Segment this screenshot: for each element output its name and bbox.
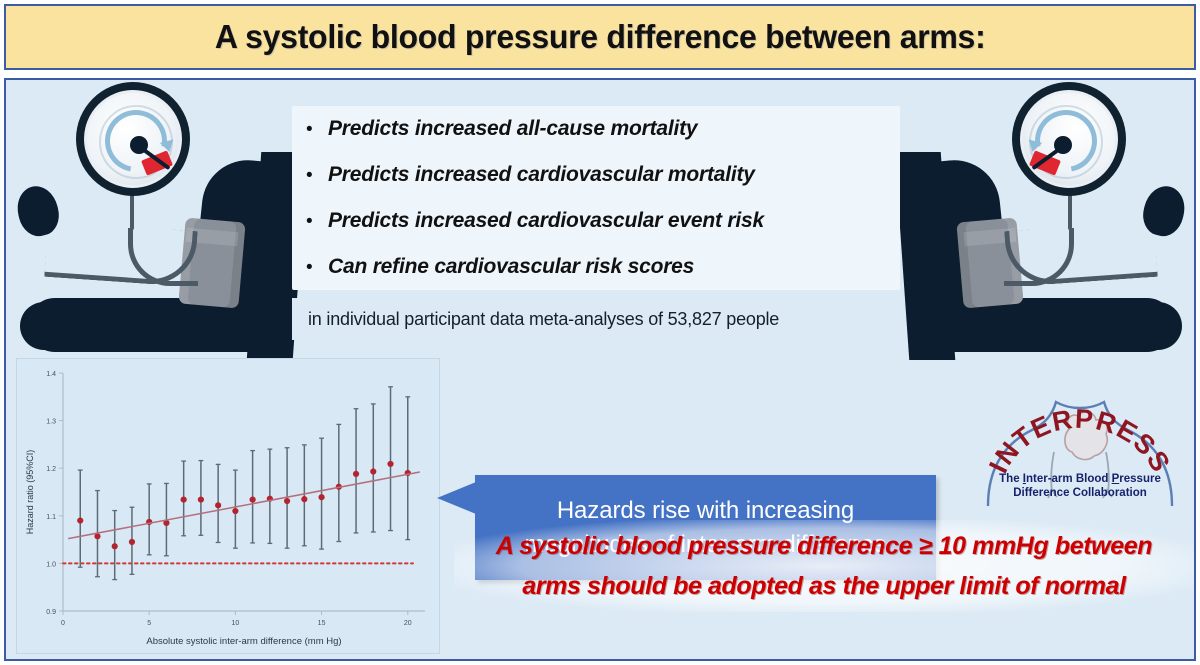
subtitle-row: in individual participant data meta-anal… xyxy=(292,298,900,340)
bullet-dot-icon: • xyxy=(306,153,328,199)
data-point xyxy=(215,502,221,508)
x-axis-title: Absolute systolic inter-arm difference (… xyxy=(146,636,341,647)
blood-pressure-monitor-right-illustration xyxy=(902,80,1192,360)
data-point xyxy=(318,494,324,500)
list-item: • Can refine cardiovascular risk scores xyxy=(292,244,900,290)
bullet-label: Predicts increased cardiovascular mortal… xyxy=(328,152,755,198)
x-tick-label: 0 xyxy=(61,620,65,627)
y-tick-label: 1.4 xyxy=(46,371,56,378)
bullet-dot-icon: • xyxy=(306,107,328,153)
data-point xyxy=(370,468,376,474)
gauge-face xyxy=(1020,90,1118,188)
callout-arrow-icon xyxy=(437,482,476,514)
main-content-panel: • Predicts increased all-cause mortality… xyxy=(4,78,1196,661)
data-point xyxy=(353,471,359,477)
data-point xyxy=(232,508,238,514)
list-item: • Predicts increased cardiovascular mort… xyxy=(292,152,900,198)
data-point xyxy=(284,498,290,504)
hazard-ratio-chart-svg: 0.91.01.11.21.31.405101520Absolute systo… xyxy=(17,359,441,655)
cohort-size-caption: in individual participant data meta-anal… xyxy=(308,309,779,330)
pressure-gauge-icon xyxy=(1012,82,1126,196)
x-tick-label: 15 xyxy=(318,620,326,627)
trend-line xyxy=(68,472,420,539)
data-point xyxy=(198,497,204,503)
conclusion-statement: A systolic blood pressure difference ≥ 1… xyxy=(454,520,1194,612)
bullet-label: Can refine cardiovascular risk scores xyxy=(328,244,694,290)
gauge-stem xyxy=(1068,192,1072,230)
y-tick-label: 1.3 xyxy=(46,419,56,426)
data-point xyxy=(112,543,118,549)
x-tick-label: 10 xyxy=(231,620,239,627)
y-tick-label: 1.2 xyxy=(46,466,56,473)
data-point xyxy=(77,517,83,523)
conclusion-line-1: A systolic blood pressure difference ≥ 1… xyxy=(496,526,1152,566)
hazard-ratio-chart: 0.91.01.11.21.31.405101520Absolute systo… xyxy=(16,358,440,654)
gauge-hub xyxy=(1054,136,1072,154)
y-tick-label: 1.1 xyxy=(46,514,56,521)
x-tick-label: 20 xyxy=(404,620,412,627)
y-axis-title: Hazard ratio (95%CI) xyxy=(25,450,35,535)
gauge-stem xyxy=(130,192,134,230)
y-tick-label: 1.0 xyxy=(46,561,56,568)
hand-shape xyxy=(20,302,76,350)
pressure-gauge-icon xyxy=(76,82,190,196)
hand-shape xyxy=(1126,302,1182,350)
bullet-dot-icon: • xyxy=(306,199,328,245)
gauge-hub xyxy=(130,136,148,154)
data-point xyxy=(250,497,256,503)
page-title: A systolic blood pressure difference bet… xyxy=(215,18,986,56)
logo-caption-line-2: Difference Collaboration xyxy=(974,486,1186,500)
title-banner: A systolic blood pressure difference bet… xyxy=(4,4,1196,70)
list-item: • Predicts increased all-cause mortality xyxy=(292,106,900,152)
logo-caption: The Inter-arm Blood Pressure Difference … xyxy=(974,472,1186,500)
list-item: • Predicts increased cardiovascular even… xyxy=(292,198,900,244)
x-tick-label: 5 xyxy=(147,620,151,627)
blood-pressure-monitor-left-illustration xyxy=(10,80,300,360)
data-point xyxy=(301,496,307,502)
conclusion-line-2: arms should be adopted as the upper limi… xyxy=(522,566,1125,606)
findings-bullet-panel: • Predicts increased all-cause mortality… xyxy=(292,106,900,290)
gauge-face xyxy=(84,90,182,188)
infographic-poster: A systolic blood pressure difference bet… xyxy=(0,0,1200,665)
bullet-label: Predicts increased all-cause mortality xyxy=(328,106,697,152)
logo-caption-line-1: The Inter-arm Blood Pressure xyxy=(974,472,1186,486)
data-point xyxy=(181,497,187,503)
bullet-dot-icon: • xyxy=(306,245,328,291)
y-tick-label: 0.9 xyxy=(46,609,56,616)
data-point xyxy=(387,461,393,467)
bullet-label: Predicts increased cardiovascular event … xyxy=(328,198,764,244)
data-point xyxy=(129,539,135,545)
